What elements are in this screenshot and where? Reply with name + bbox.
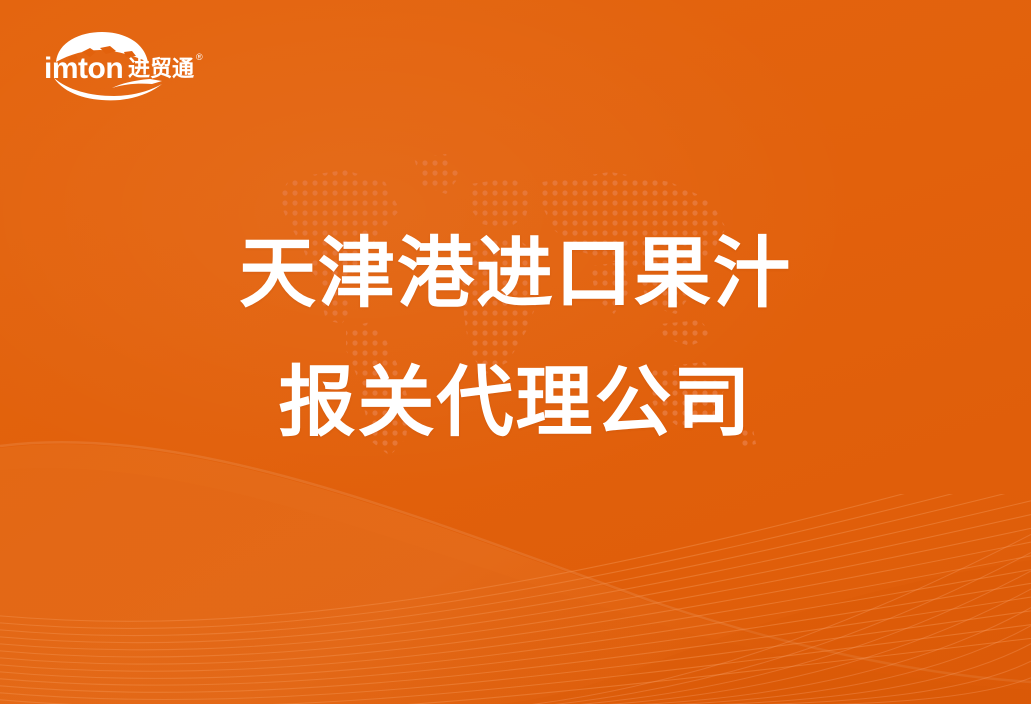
brand-logo[interactable]: imton 进贸通 ® bbox=[38, 26, 218, 104]
logo-chinese-text: 进贸通 bbox=[128, 56, 194, 81]
stripe-fan bbox=[0, 494, 1031, 704]
promo-banner: imton 进贸通 ® 天津港进口果汁 报关代理公司 bbox=[0, 0, 1031, 704]
logo-trademark: ® bbox=[196, 52, 203, 62]
page-title: 天津港进口果汁 报关代理公司 bbox=[0, 236, 1031, 442]
logo-latin-text: imton bbox=[44, 52, 123, 85]
headline-line-1: 天津港进口果汁 bbox=[0, 236, 1031, 313]
headline-line-2: 报关代理公司 bbox=[0, 365, 1031, 442]
